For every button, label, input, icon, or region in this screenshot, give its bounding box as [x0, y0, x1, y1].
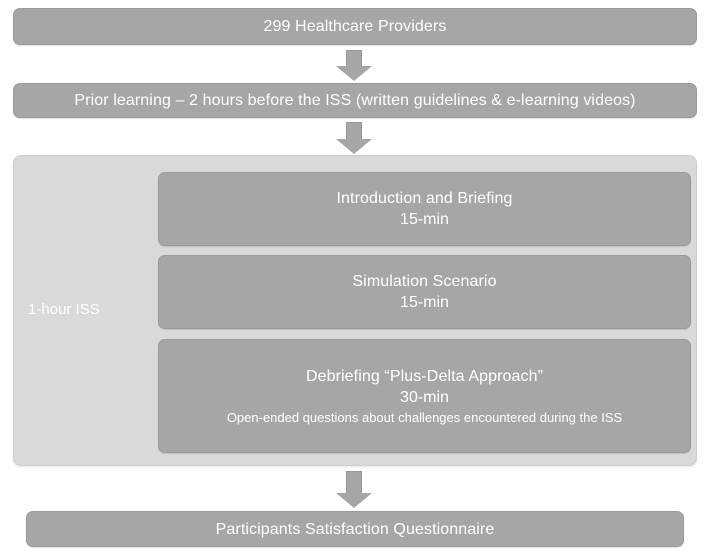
node-healthcare-providers: 299 Healthcare Providers: [13, 8, 697, 45]
arrow-shaft: [346, 50, 362, 67]
node-debriefing: Debriefing “Plus-Delta Approach” 30-min …: [158, 339, 691, 453]
node-healthcare-providers-label: 299 Healthcare Providers: [264, 16, 447, 37]
arrow-down-icon-iss-to-questionnaire: [336, 471, 372, 509]
arrow-head: [336, 66, 372, 81]
node-introduction-briefing: Introduction and Briefing 15-min: [158, 172, 691, 246]
node-debriefing-label: Debriefing “Plus-Delta Approach”: [306, 366, 543, 387]
arrow-head: [336, 493, 372, 508]
arrow-down-icon-providers-to-prior-learning: [336, 50, 372, 81]
node-participants-satisfaction-questionnaire: Participants Satisfaction Questionnaire: [26, 511, 684, 547]
arrow-head: [336, 139, 372, 154]
node-prior-learning-label: Prior learning – 2 hours before the ISS …: [74, 90, 635, 111]
node-simulation-scenario-label: Simulation Scenario: [352, 271, 496, 292]
arrow-down-icon-prior-learning-to-iss: [336, 122, 372, 154]
flowchart-canvas: 299 Healthcare Providers Prior learning …: [0, 0, 708, 553]
node-simulation-scenario: Simulation Scenario 15-min: [158, 255, 691, 329]
arrow-shaft: [346, 122, 362, 140]
node-debriefing-note: Open-ended questions about challenges en…: [227, 408, 622, 427]
node-simulation-scenario-duration: 15-min: [400, 292, 449, 313]
node-introduction-briefing-label: Introduction and Briefing: [337, 188, 513, 209]
node-introduction-briefing-duration: 15-min: [400, 209, 449, 230]
arrow-shaft: [346, 471, 362, 494]
node-debriefing-duration: 30-min: [400, 387, 449, 408]
node-prior-learning: Prior learning – 2 hours before the ISS …: [13, 83, 697, 118]
group-one-hour-iss-label: 1-hour ISS: [28, 300, 148, 320]
node-participants-satisfaction-questionnaire-label: Participants Satisfaction Questionnaire: [216, 519, 495, 540]
